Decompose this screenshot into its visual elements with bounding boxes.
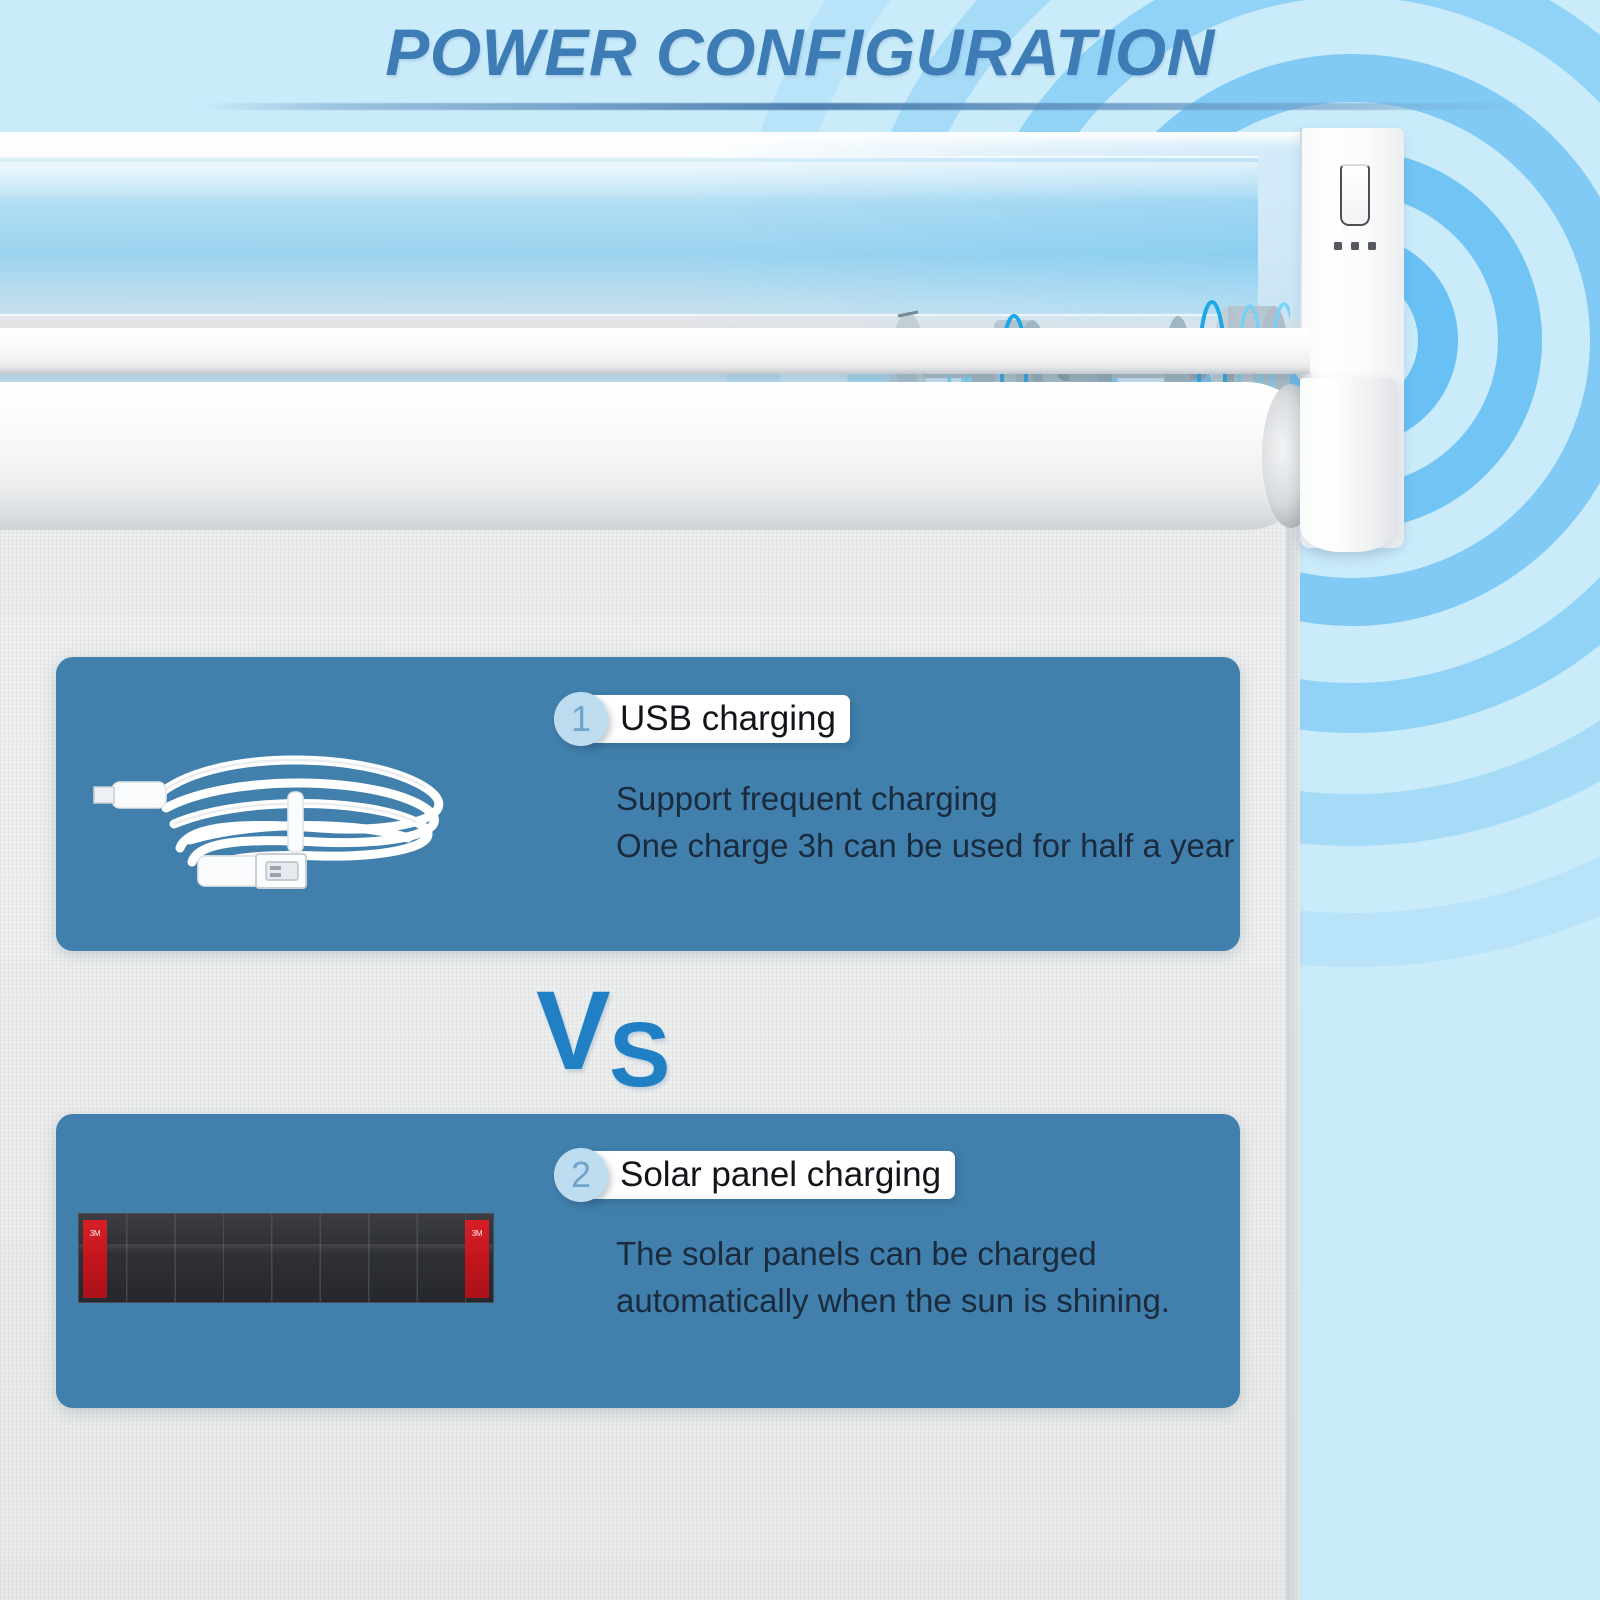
usb-cable-photo bbox=[70, 730, 490, 900]
card-badge-number: 1 bbox=[554, 692, 608, 746]
infographic-canvas: POWER CONFIGURATION bbox=[0, 0, 1600, 1600]
card-badge-number: 2 bbox=[554, 1148, 608, 1202]
power-button-icon[interactable] bbox=[1340, 164, 1370, 226]
product-illustration bbox=[0, 132, 1600, 602]
solar-panel-photo: 3M 3M bbox=[78, 1213, 494, 1303]
led-indicator-icon bbox=[1351, 242, 1359, 250]
mounting-bracket bbox=[1300, 378, 1396, 552]
adhesive-tape-label: 3M bbox=[465, 1220, 489, 1298]
adhesive-tape-right: 3M bbox=[465, 1220, 489, 1298]
versus-letter-v: V bbox=[536, 975, 611, 1087]
led-indicator-icon bbox=[1368, 242, 1376, 250]
fabric-right-edge bbox=[1286, 512, 1304, 1600]
header: POWER CONFIGURATION bbox=[0, 0, 1600, 132]
solar-cell-grid bbox=[79, 1214, 493, 1302]
adhesive-tape-left: 3M bbox=[83, 1220, 107, 1298]
card-title-usb-charging: USB charging bbox=[586, 695, 850, 743]
tube-highlight bbox=[0, 162, 1258, 202]
adhesive-tape-label: 3M bbox=[83, 1220, 107, 1298]
versus-letter-s: S bbox=[609, 1009, 670, 1101]
led-indicator-group bbox=[1334, 242, 1378, 252]
card-body-line: automatically when the sun is shining. bbox=[616, 1277, 1170, 1324]
title-divider bbox=[200, 103, 1530, 110]
led-indicator-icon bbox=[1334, 242, 1342, 250]
card-body-line: Support frequent charging bbox=[616, 775, 998, 822]
card-title-solar-panel-charging: Solar panel charging bbox=[586, 1151, 955, 1199]
rail-lip bbox=[0, 328, 1310, 374]
card-body-line: One charge 3h can be used for half a yea… bbox=[616, 822, 1234, 869]
solar-panel-sheen bbox=[79, 1244, 493, 1253]
page-title: POWER CONFIGURATION bbox=[0, 14, 1600, 90]
card-body-line: The solar panels can be charged bbox=[616, 1230, 1097, 1277]
versus-mark: V S bbox=[536, 975, 706, 1100]
fabric-roll-cylinder bbox=[0, 382, 1318, 530]
